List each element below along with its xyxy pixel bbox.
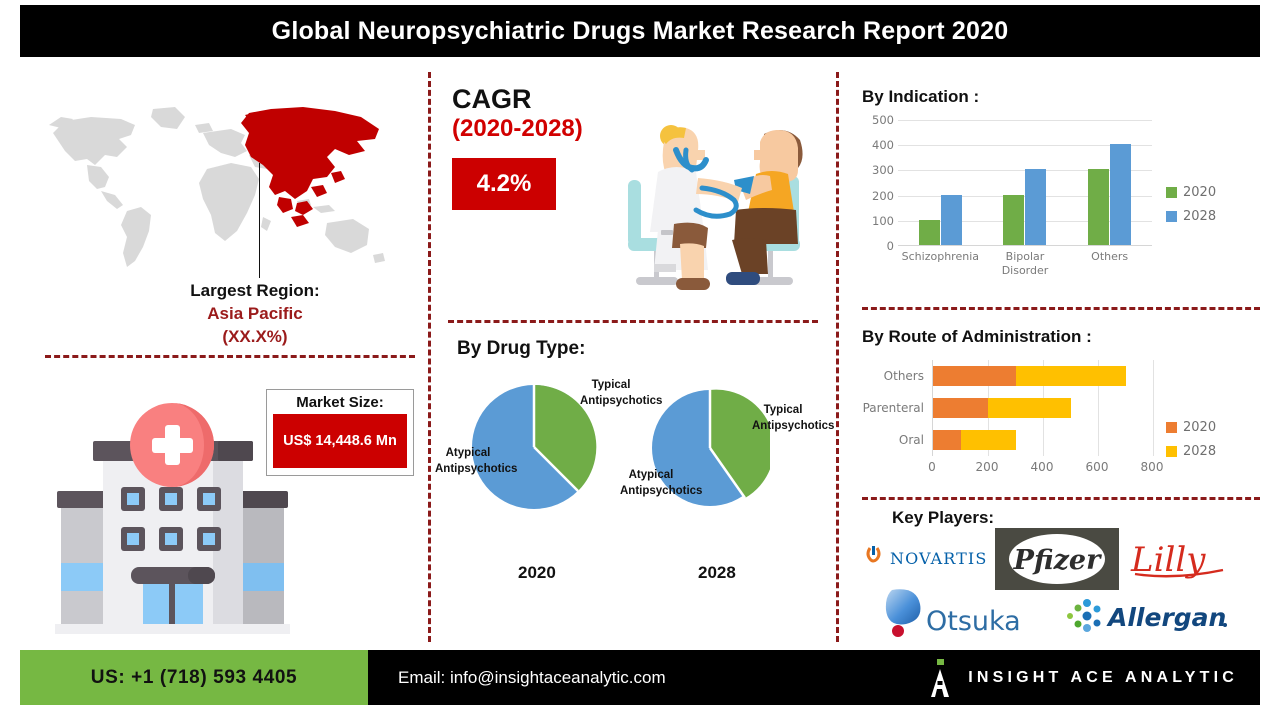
pie-2028-year: 2028 (698, 563, 736, 583)
route-gridline (1153, 360, 1154, 456)
indication-y-tick: 0 (887, 239, 894, 253)
indication-x-tick: Bipolar Disorder (986, 250, 1064, 278)
drug-type-charts: Typical Antipsychotics Atypical Antipsyc… (440, 368, 830, 598)
hospital-illustration (55, 395, 290, 640)
route-y-tick: Oral (899, 433, 924, 447)
largest-region-block: Largest Region: Asia Pacific (XX.X%) (120, 280, 390, 349)
lilly-logo: Lilly (1127, 538, 1235, 582)
allergan-logo: Allergan (1062, 596, 1230, 634)
indication-bar-group (1088, 120, 1131, 245)
route-x-tick: 600 (1086, 460, 1109, 474)
indication-bar (1025, 169, 1046, 245)
route-y-axis: OthersParenteralOral (862, 360, 928, 456)
footer-bar: US: +1 (718) 593 4405 Email: info@insigh… (20, 650, 1260, 705)
legend-label: 2028 (1183, 444, 1216, 459)
indication-bar (919, 220, 940, 245)
route-bar-row (933, 430, 1152, 450)
divider-horizontal-right-top (862, 307, 1260, 310)
market-size-value: US$ 14,448.6 Mn (283, 432, 397, 450)
divider-horizontal-middle (448, 320, 818, 323)
footer-phone-box: US: +1 (718) 593 4405 (20, 650, 368, 705)
indication-legend: 20202028 (1166, 185, 1216, 224)
pie-2028-typical-label: Typical Antipsychotics (752, 403, 814, 434)
report-header: Global Neuropsychiatric Drugs Market Res… (20, 5, 1260, 57)
hospital-building-icon (55, 395, 290, 640)
infographic-page: Global Neuropsychiatric Drugs Market Res… (0, 0, 1280, 720)
map-pointer-line (259, 163, 260, 278)
route-title: By Route of Administration : (862, 327, 1092, 347)
indication-y-tick: 500 (872, 113, 894, 127)
indication-chart: 0100200300400500 SchizophreniaBipolar Di… (862, 120, 1152, 270)
route-bar-row (933, 398, 1152, 418)
legend-item: 2028 (1166, 444, 1216, 459)
indication-bar-groups (898, 120, 1152, 245)
doctor-illustration (614, 112, 824, 307)
pie-2020-atypical-label: Atypical Antipsychotics (435, 446, 501, 477)
pie-2020-typical-label: Typical Antipsychotics (580, 378, 642, 409)
pie-2020-year: 2020 (518, 563, 556, 583)
route-plot-area (932, 360, 1152, 456)
world-map-icon (35, 95, 425, 280)
svg-text:Allergan: Allergan (1106, 603, 1226, 632)
indication-bar (941, 195, 962, 245)
largest-region-percent: (XX.X%) (120, 326, 390, 349)
footer-phone: US: +1 (718) 593 4405 (91, 667, 297, 689)
indication-plot-area (898, 120, 1152, 246)
legend-swatch (1166, 446, 1177, 457)
indication-bar-group (919, 120, 962, 245)
svg-text:Otsuka: Otsuka (926, 606, 1021, 637)
key-players-logos: NOVARTIS Pfizer Lilly Otsuka (862, 528, 1262, 640)
route-bar-row (933, 366, 1152, 386)
indication-y-tick: 300 (872, 163, 894, 177)
route-y-tick: Others (884, 369, 924, 383)
page-title: Global Neuropsychiatric Drugs Market Res… (272, 17, 1009, 46)
cagr-value: 4.2% (477, 170, 532, 198)
route-bar-segment (933, 366, 1016, 386)
drug-type-title: By Drug Type: (457, 338, 585, 360)
legend-swatch (1166, 422, 1177, 433)
route-bar-segment (933, 430, 961, 450)
route-x-tick: 800 (1141, 460, 1164, 474)
route-legend: 20202028 (1166, 420, 1216, 459)
route-bar-segment (1016, 366, 1126, 386)
route-chart: OthersParenteralOral 0200400600800 (862, 360, 1152, 488)
footer-brand-name: INSIGHT ACE ANALYTIC (968, 669, 1238, 687)
cagr-value-badge: 4.2% (452, 158, 556, 210)
indication-bar (1110, 144, 1131, 245)
legend-item: 2020 (1166, 185, 1216, 200)
divider-vertical-left (428, 72, 431, 642)
indication-y-tick: 400 (872, 138, 894, 152)
route-x-tick: 400 (1031, 460, 1054, 474)
world-map (35, 95, 425, 280)
market-size-title: Market Size: (296, 394, 384, 411)
market-size-box: Market Size: US$ 14,448.6 Mn (266, 389, 414, 476)
indication-y-tick: 200 (872, 189, 894, 203)
legend-item: 2028 (1166, 209, 1216, 224)
pie-2028-atypical-label: Atypical Antipsychotics (620, 468, 682, 499)
divider-horizontal-right-bottom (862, 497, 1260, 500)
cagr-years: (2020-2028) (452, 115, 622, 144)
largest-region-value: Asia Pacific (120, 303, 390, 326)
market-size-value-badge: US$ 14,448.6 Mn (273, 414, 407, 468)
largest-region-label: Largest Region: (120, 280, 390, 303)
indication-x-axis: SchizophreniaBipolar DisorderOthers (898, 250, 1152, 278)
indication-bar (1003, 195, 1024, 245)
legend-label: 2028 (1183, 209, 1216, 224)
svg-text:Pfizer: Pfizer (1013, 545, 1102, 576)
footer-brand: INSIGHT ACE ANALYTIC (930, 650, 1238, 705)
legend-label: 2020 (1183, 185, 1216, 200)
indication-y-axis: 0100200300400500 (862, 120, 894, 246)
indication-x-tick: Others (1071, 250, 1149, 278)
divider-vertical-right (836, 72, 839, 642)
novartis-logo: NOVARTIS (862, 544, 987, 572)
doctor-patient-consultation-icon (614, 112, 824, 307)
legend-item: 2020 (1166, 420, 1216, 435)
indication-y-tick: 100 (872, 214, 894, 228)
pfizer-logo: Pfizer (995, 528, 1119, 590)
divider-horizontal-left (45, 355, 415, 358)
route-x-axis: 0200400600800 (932, 460, 1152, 476)
route-x-tick: 200 (976, 460, 999, 474)
indication-bar-group (1003, 120, 1046, 245)
legend-swatch (1166, 187, 1177, 198)
indication-x-tick: Schizophrenia (901, 250, 979, 278)
insight-ace-analytic-logo-icon (930, 659, 954, 697)
route-bar-segment (988, 398, 1071, 418)
route-bar-segment (961, 430, 1016, 450)
legend-swatch (1166, 211, 1177, 222)
footer-email: Email: info@insightaceanalytic.com (398, 650, 666, 705)
legend-label: 2020 (1183, 420, 1216, 435)
route-y-tick: Parenteral (863, 401, 924, 415)
indication-bar (1088, 169, 1109, 245)
route-bar-rows (933, 360, 1152, 456)
key-players-title: Key Players: (892, 508, 994, 528)
indication-title: By Indication : (862, 87, 979, 107)
route-x-tick: 0 (928, 460, 936, 474)
cagr-label: CAGR (452, 85, 622, 113)
route-bar-segment (933, 398, 988, 418)
svg-text:NOVARTIS: NOVARTIS (890, 549, 987, 568)
cagr-block: CAGR (2020-2028) 4.2% (452, 85, 622, 210)
otsuka-logo: Otsuka (880, 586, 1032, 638)
